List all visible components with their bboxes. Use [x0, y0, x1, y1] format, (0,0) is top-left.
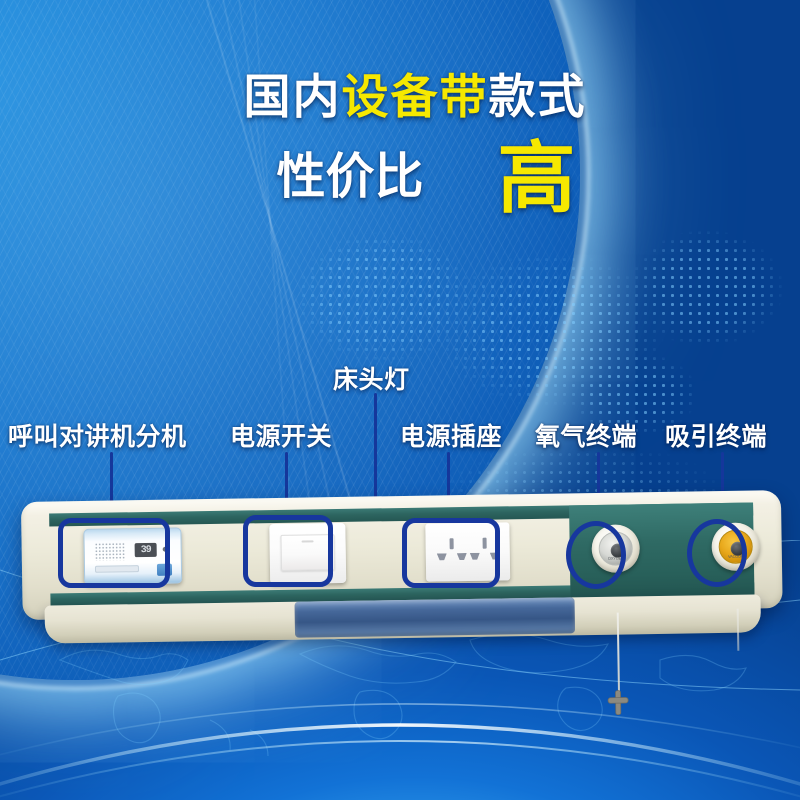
poster-stage: 国内设备带款式 性价比 高 呼叫对讲机分机 电源开关 床头灯 电源插座 氧气终端…: [0, 0, 800, 800]
highlight-box-socket: [402, 518, 500, 588]
callout-label-intercom: 呼叫对讲机分机: [8, 417, 187, 453]
callout-label-suction: 吸引终端: [665, 417, 767, 453]
highlight-box-suction: [687, 519, 747, 587]
callout-label-bedlamp: 床头灯: [333, 360, 410, 396]
callout-layer: 呼叫对讲机分机 电源开关 床头灯 电源插座 氧气终端 吸引终端: [0, 0, 800, 800]
bed-lamp-diffuser: [295, 597, 576, 637]
callout-label-oxygen: 氧气终端: [535, 417, 637, 453]
highlight-box-intercom: [58, 518, 170, 588]
callout-label-switch: 电源开关: [230, 417, 332, 453]
pull-cord-handle-icon[interactable]: [604, 688, 632, 716]
callout-label-socket: 电源插座: [400, 417, 502, 453]
highlight-box-switch: [243, 515, 333, 587]
highlight-box-oxygen: [566, 521, 626, 589]
